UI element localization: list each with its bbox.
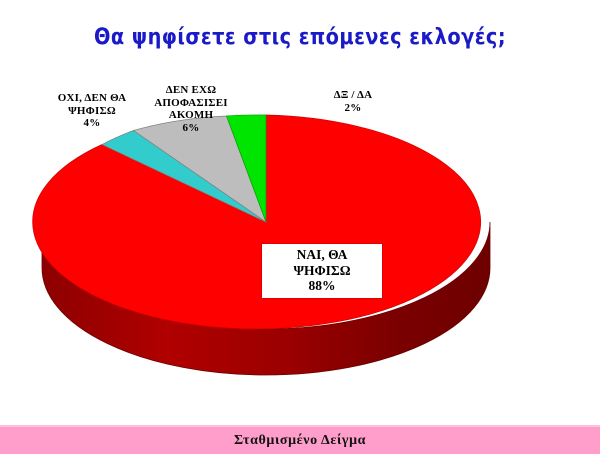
- pie-label-dxda-line1: ΔΞ / ΔΑ: [296, 89, 410, 102]
- pie-label-den-exo-line3: ΑΚΟΜΗ: [135, 109, 247, 122]
- footer-label: Σταθμισμένο Δείγμα: [234, 433, 366, 449]
- pie-label-oxi-percent: 4%: [37, 117, 147, 130]
- pie-label-den-exo: ΔΕΝ ΕΧΩ ΑΠΟΦΑΣΙΣΕΙ ΑΚΟΜΗ 6%: [135, 84, 247, 134]
- pie-label-oxi-line2: ΨΗΦΙΣΩ: [37, 105, 147, 118]
- pie-label-den-exo-line1: ΔΕΝ ΕΧΩ: [135, 84, 247, 97]
- pie-top-face: [33, 115, 481, 329]
- pie-label-nai-line1: ΝΑΙ, ΘΑ: [264, 247, 380, 263]
- pie-chart: [0, 0, 600, 410]
- pie-label-nai-percent: 88%: [264, 278, 380, 294]
- pie-label-dxda-percent: 2%: [296, 102, 410, 115]
- pie-label-nai: ΝΑΙ, ΘΑ ΨΗΦΙΣΩ 88%: [261, 243, 383, 299]
- pie-label-den-exo-line2: ΑΠΟΦΑΣΙΣΕΙ: [135, 97, 247, 110]
- pie-label-den-exo-percent: 6%: [135, 122, 247, 135]
- pie-chart-svg: [0, 0, 600, 410]
- pie-label-dxda: ΔΞ / ΔΑ 2%: [296, 89, 410, 114]
- footer-banner: Σταθμισμένο Δείγμα: [0, 425, 600, 454]
- pie-label-oxi: ΟΧΙ, ΔΕΝ ΘΑ ΨΗΦΙΣΩ 4%: [37, 92, 147, 130]
- pie-label-oxi-line1: ΟΧΙ, ΔΕΝ ΘΑ: [37, 92, 147, 105]
- pie-label-nai-line2: ΨΗΦΙΣΩ: [264, 263, 380, 279]
